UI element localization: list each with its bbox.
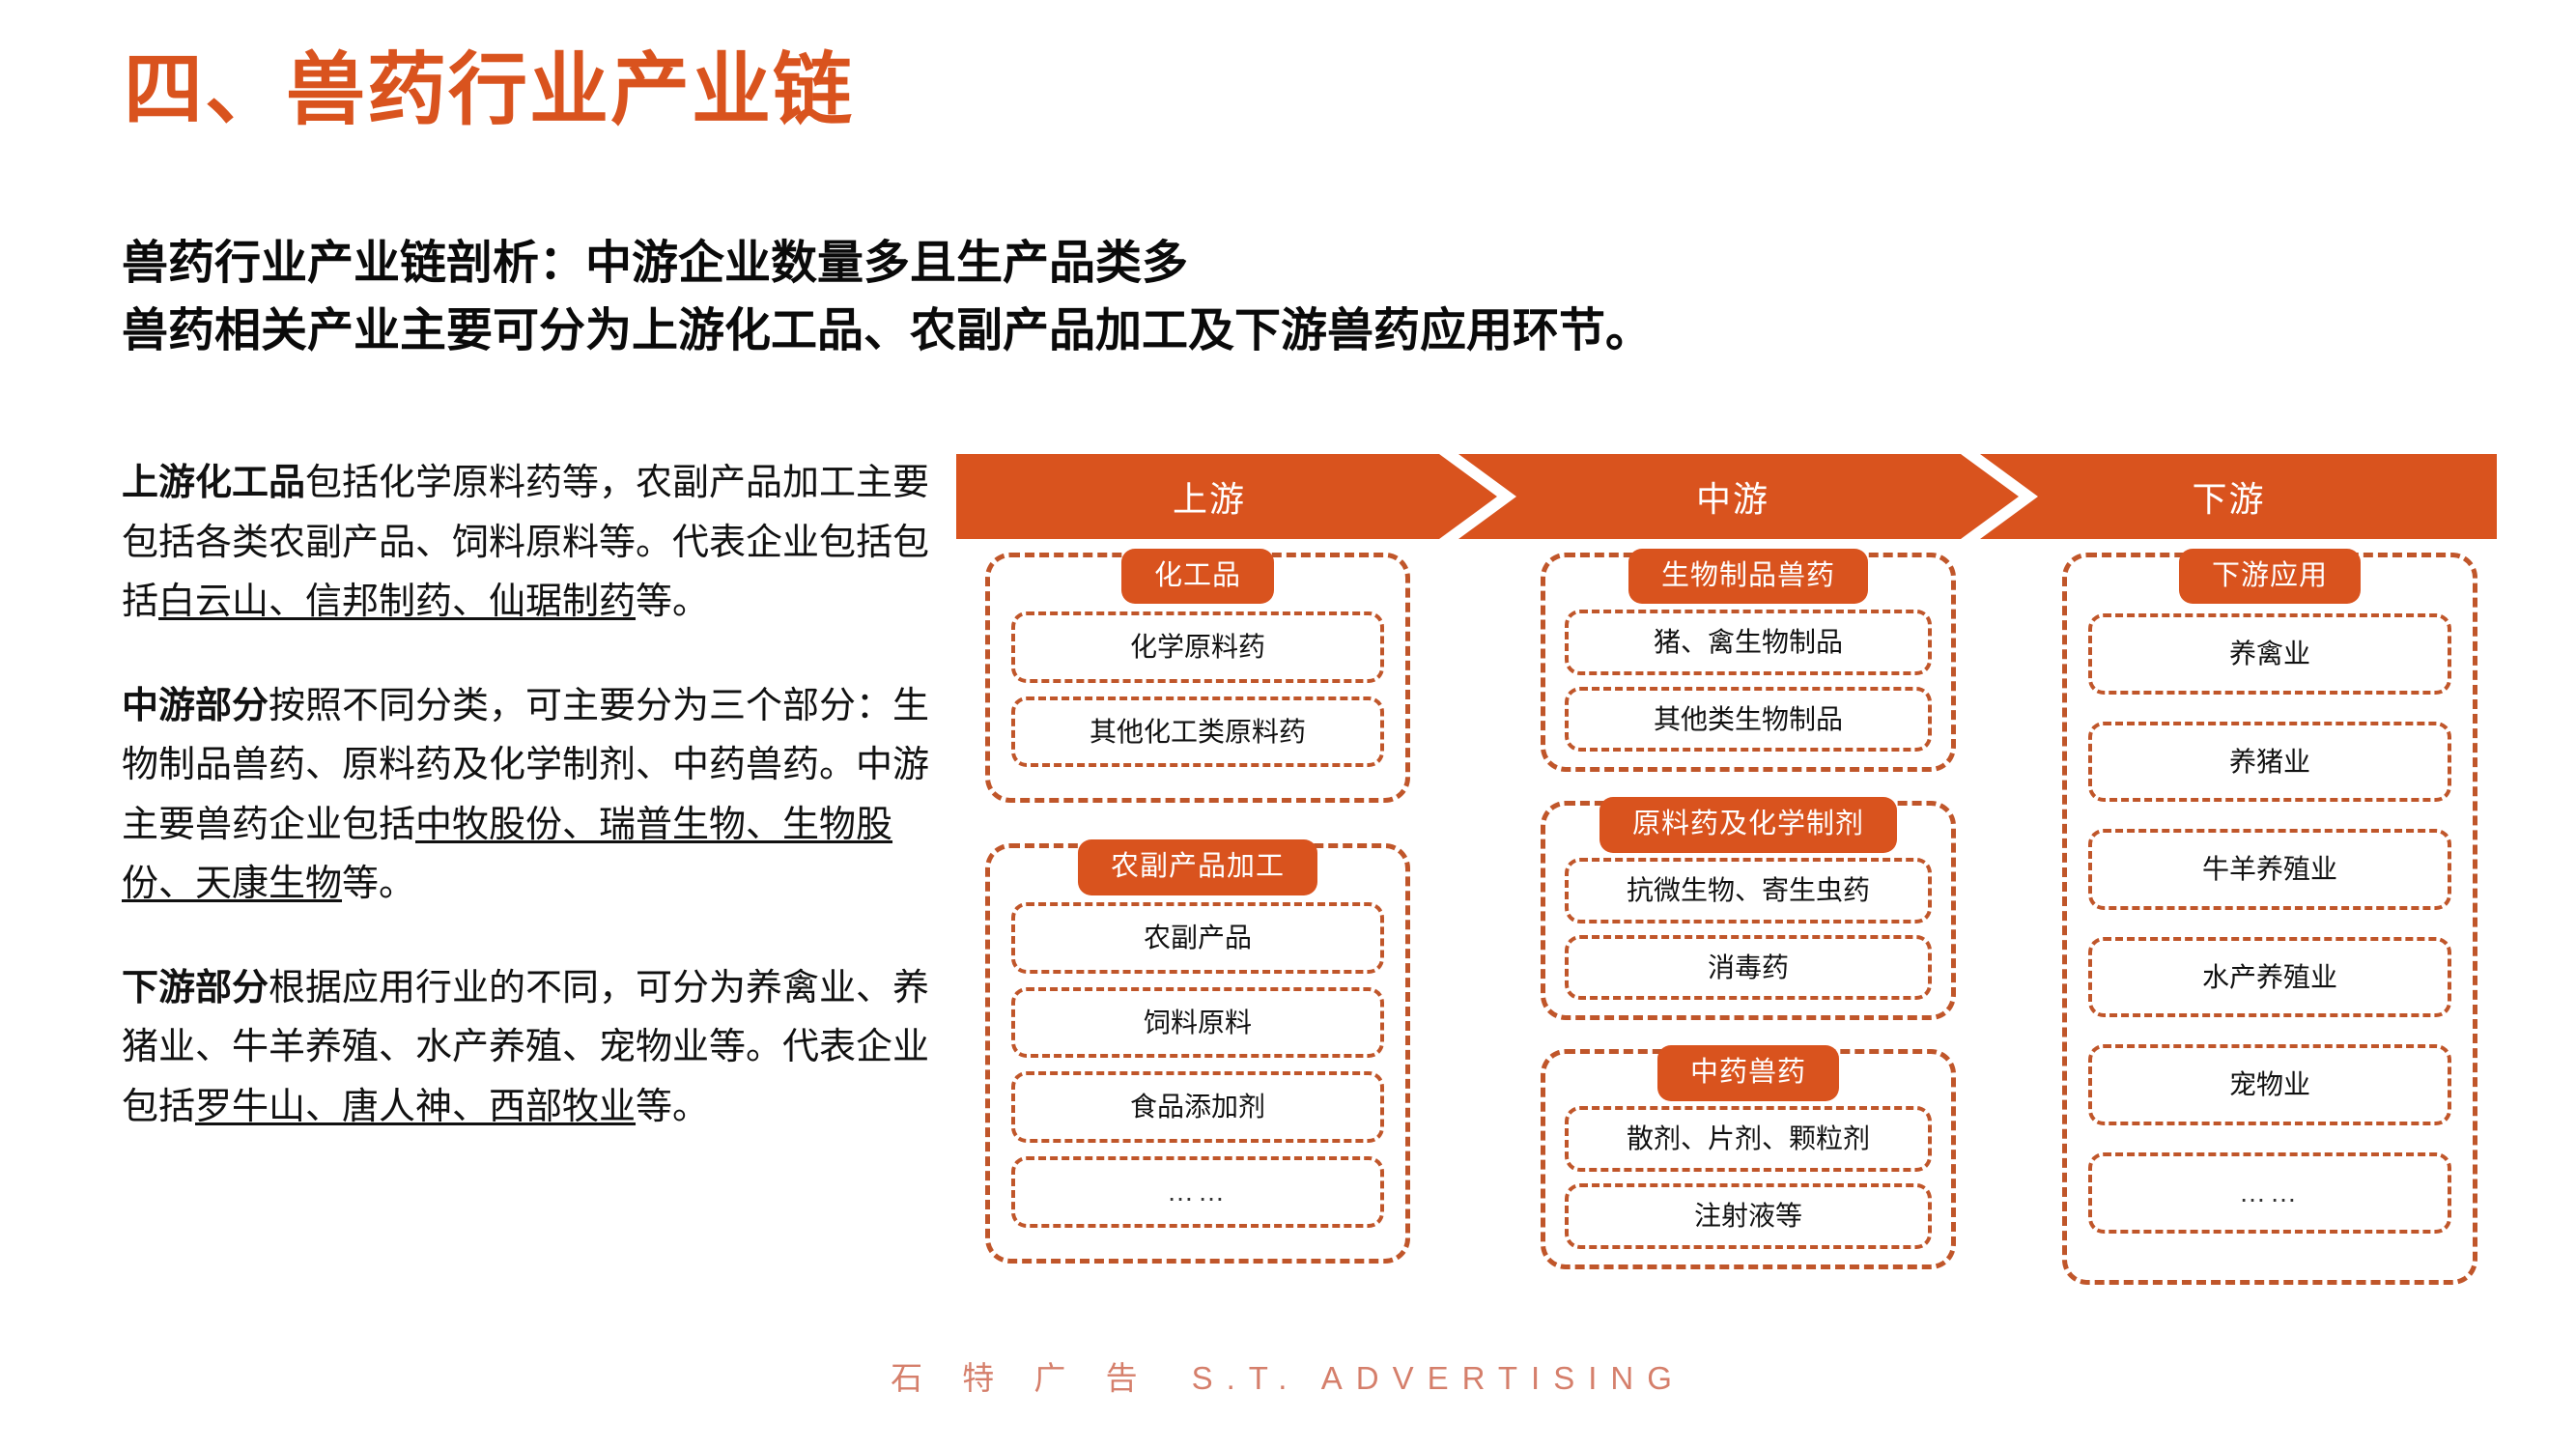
footer-watermark: 石 特 广 告S.T. ADVERTISING	[0, 1352, 2576, 1399]
column-midstream: 生物制品兽药 猪、禽生物制品 其他类生物制品 原料药及化学制剂 抗微生物、寄生虫…	[1541, 553, 1956, 1298]
paragraph-tail: 等。	[636, 1087, 709, 1127]
list-item[interactable]: 其他类生物制品	[1565, 687, 1932, 753]
group-title[interactable]: 中药兽药	[1657, 1045, 1839, 1100]
subtitle-block: 兽药行业产业链剖析：中游企业数量多且生产品类多 兽药相关产业主要可分为上游化工品…	[122, 230, 1652, 365]
list-item[interactable]: 牛羊养殖业	[2088, 829, 2451, 910]
stage-columns: 化工品 化学原料药 其他化工类原料药 农副产品加工 农副产品 饲料原料 食品添加…	[956, 553, 2502, 1287]
stage-arrow-midstream[interactable]: 中游	[1458, 454, 2019, 539]
group-title[interactable]: 下游应用	[2179, 549, 2361, 604]
paragraph-lead: 上游化工品	[122, 463, 305, 503]
group-chemical-products: 化工品 化学原料药 其他化工类原料药	[985, 553, 1410, 803]
stage-label-midstream: 中游	[1696, 471, 1769, 522]
stage-arrow-upstream[interactable]: 上游	[956, 454, 1497, 539]
stage-arrow-row: 上游 中游 下游	[956, 454, 2497, 539]
list-item[interactable]: 注射液等	[1565, 1183, 1932, 1249]
paragraph-companies: 罗牛山、唐人神、西部牧业	[195, 1087, 636, 1127]
list-item[interactable]: 农副产品	[1011, 902, 1384, 974]
group-downstream-applications: 下游应用 养禽业 养猪业 牛羊养殖业 水产养殖业 宠物业 ……	[2062, 553, 2477, 1285]
group-tcm-veterinary: 中药兽药 散剂、片剂、颗粒剂 注射液等	[1541, 1049, 1956, 1268]
subtitle-line-2: 兽药相关产业主要可分为上游化工品、农副产品加工及下游兽药应用环节。	[122, 298, 1652, 365]
list-item[interactable]: 食品添加剂	[1011, 1071, 1384, 1143]
group-agri-processing: 农副产品加工 农副产品 饲料原料 食品添加剂 ……	[985, 843, 1410, 1263]
footer-cn: 石 特 广 告	[891, 1360, 1153, 1396]
subtitle-line-1: 兽药行业产业链剖析：中游企业数量多且生产品类多	[122, 230, 1652, 298]
list-item[interactable]: 水产养殖业	[2088, 937, 2451, 1018]
group-shell: 农副产品 饲料原料 食品添加剂 ……	[985, 843, 1410, 1263]
list-item[interactable]: 散剂、片剂、颗粒剂	[1565, 1106, 1932, 1172]
group-shell: 养禽业 养猪业 牛羊养殖业 水产养殖业 宠物业 ……	[2062, 553, 2477, 1285]
paragraph-companies: 白云山、信邦制药、仙琚制药	[158, 582, 636, 622]
list-item[interactable]: 养禽业	[2088, 613, 2451, 695]
list-item[interactable]: 养猪业	[2088, 722, 2451, 803]
list-item[interactable]: 猪、禽生物制品	[1565, 610, 1932, 675]
group-title[interactable]: 原料药及化学制剂	[1599, 797, 1897, 852]
narrative-column: 上游化工品包括化学原料药等，农副产品加工主要包括各类农副产品、饲料原料等。代表企…	[122, 454, 933, 1137]
page-title: 四、兽药行业产业链	[124, 48, 854, 134]
group-title[interactable]: 化工品	[1121, 549, 1274, 604]
stage-label-upstream: 上游	[1173, 471, 1246, 522]
paragraph-tail: 等。	[636, 582, 709, 622]
column-upstream: 化工品 化学原料药 其他化工类原料药 农副产品加工 农副产品 饲料原料 食品添加…	[985, 553, 1410, 1304]
column-downstream: 下游应用 养禽业 养猪业 牛羊养殖业 水产养殖业 宠物业 ……	[2062, 553, 2477, 1308]
group-title[interactable]: 农副产品加工	[1078, 839, 1317, 895]
group-title[interactable]: 生物制品兽药	[1628, 549, 1868, 604]
list-item-ellipsis[interactable]: ……	[2088, 1152, 2451, 1234]
list-item[interactable]: 宠物业	[2088, 1044, 2451, 1125]
value-chain-diagram: 上游 中游 下游 化工品 化学原料药 其他化工类原料药 农副	[956, 454, 2502, 1285]
paragraph-tail: 等。	[342, 864, 415, 904]
group-api-chemical: 原料药及化学制剂 抗微生物、寄生虫药 消毒药	[1541, 801, 1956, 1020]
paragraph-downstream: 下游部分根据应用行业的不同，可分为养禽业、养猪业、牛羊养殖、水产养殖、宠物业等。…	[122, 959, 933, 1138]
slide-root: 四、兽药行业产业链 兽药行业产业链剖析：中游企业数量多且生产品类多 兽药相关产业…	[0, 0, 2576, 1449]
list-item[interactable]: 化学原料药	[1011, 611, 1384, 683]
paragraph-lead: 中游部分	[122, 686, 269, 726]
list-item-ellipsis[interactable]: ……	[1011, 1156, 1384, 1228]
list-item[interactable]: 饲料原料	[1011, 987, 1384, 1059]
stage-label-downstream: 下游	[2192, 471, 2265, 522]
paragraph-midstream: 中游部分按照不同分类，可主要分为三个部分：生物制品兽药、原料药及化学制剂、中药兽…	[122, 677, 933, 915]
paragraph-upstream: 上游化工品包括化学原料药等，农副产品加工主要包括各类农副产品、饲料原料等。代表企…	[122, 454, 933, 633]
footer-en: S.T. ADVERTISING	[1192, 1360, 1685, 1396]
stage-arrow-downstream[interactable]: 下游	[1980, 454, 2497, 539]
list-item[interactable]: 消毒药	[1565, 935, 1932, 1001]
list-item[interactable]: 其他化工类原料药	[1011, 696, 1384, 768]
group-biological-products: 生物制品兽药 猪、禽生物制品 其他类生物制品	[1541, 553, 1956, 772]
list-item[interactable]: 抗微生物、寄生虫药	[1565, 858, 1932, 923]
paragraph-lead: 下游部分	[122, 968, 269, 1009]
